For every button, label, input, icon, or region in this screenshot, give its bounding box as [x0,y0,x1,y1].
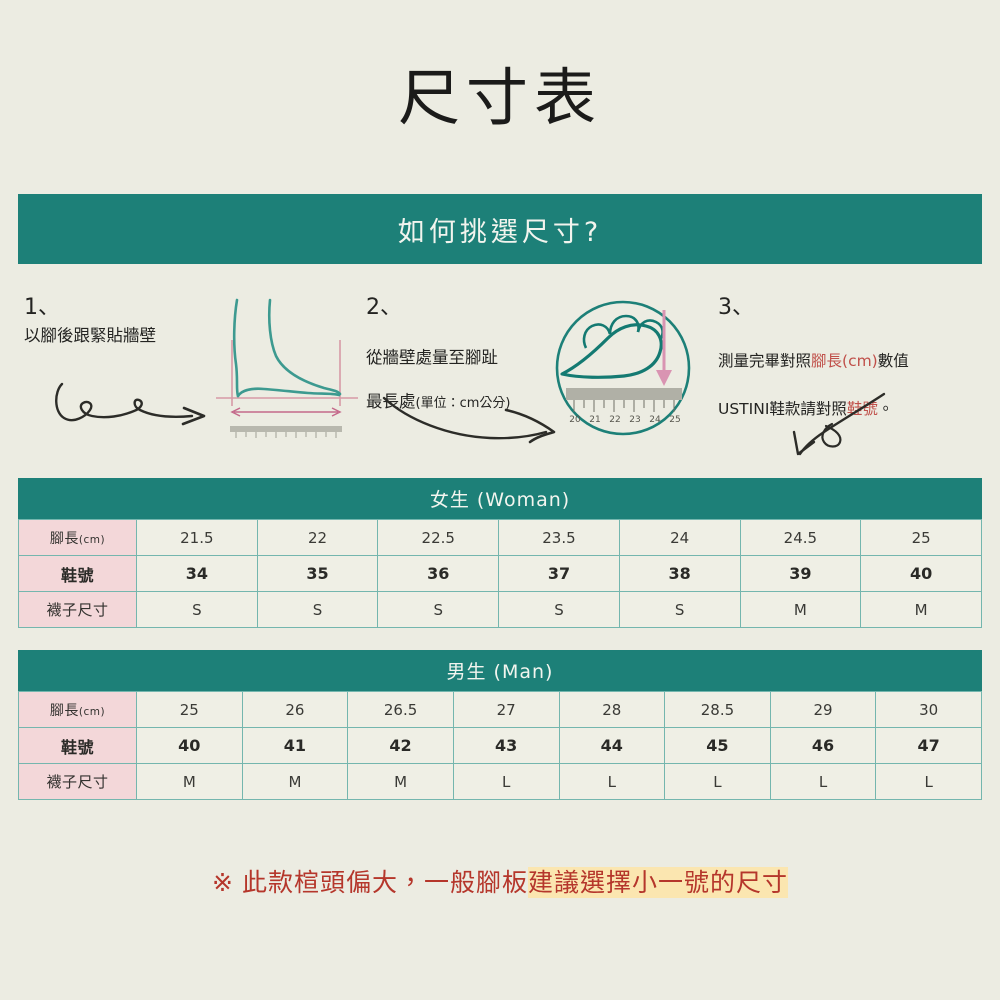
cell-value: 28.5 [665,692,771,728]
cell-value: 29 [770,692,876,728]
footer-note-highlight: 建議選擇小一號的尺寸 [528,867,788,898]
table-row: 鞋號 40 41 42 43 44 45 46 47 [19,728,982,764]
table-row: 襪子尺寸 M M M L L L L L [19,764,982,800]
cell-value: S [257,592,378,628]
step-3: 3、 測量完畢對照腳長(cm)數值 USTINI鞋款請對照鞋號。 [718,296,990,462]
cell-value: 37 [499,556,620,592]
row-label-foot-length: 腳長(cm) [19,520,137,556]
squiggle-arrow-icon [766,392,916,458]
row-label-foot-length-unit: (cm) [79,534,105,546]
ruler-label-20: 20 [569,415,581,425]
cell-value: 47 [876,728,982,764]
table-row: 腳長(cm) 25 26 26.5 27 28 28.5 29 30 [19,692,982,728]
step-3-line1-suffix: 數值 [878,352,909,370]
row-label-sock-size: 襪子尺寸 [19,764,137,800]
cell-value: S [619,592,740,628]
cell-value: M [137,764,243,800]
size-table-woman: 女生 (Woman) 腳長(cm) 21.5 22 22.5 23.5 24 2… [18,478,982,628]
table-row: 鞋號 34 35 36 37 38 39 40 [19,556,982,592]
cell-value: 45 [665,728,771,764]
table-row: 腳長(cm) 21.5 22 22.5 23.5 24 24.5 25 [19,520,982,556]
page-title: 尺寸表 [0,62,1000,134]
row-label-foot-length-unit: (cm) [79,706,105,718]
cell-value: 28 [559,692,665,728]
cell-value: M [861,592,982,628]
footer-note: ※此款楦頭偏大，一般腳板建議選擇小一號的尺寸 [0,865,1000,901]
cell-value: 21.5 [137,520,258,556]
how-to-choose-banner: 如何挑選尺寸? [18,194,982,264]
ruler-label-23: 23 [629,415,640,425]
cell-value: L [453,764,559,800]
cell-value: 41 [242,728,348,764]
cell-value: 34 [137,556,258,592]
table-row: 襪子尺寸 S S S S S M M [19,592,982,628]
step-3-number: 3、 [718,296,990,320]
row-label-shoe-size: 鞋號 [19,556,137,592]
step-2: 2、 從牆壁處量至腳趾 最長處(單位：cm公分) [366,296,706,462]
ruler-label-21: 21 [589,415,600,425]
banner-label: 如何挑選尺寸? [398,210,602,249]
cell-value: 35 [257,556,378,592]
step-3-line1-prefix: 測量完畢對照 [718,352,811,370]
table-heading-man: 男生 (Man) [19,650,982,692]
cell-value: M [740,592,861,628]
cell-value: 40 [861,556,982,592]
cell-value: 22.5 [378,520,499,556]
cell-value: 25 [861,520,982,556]
cell-value: L [876,764,982,800]
footer-note-plain: 此款楦頭偏大，一般腳板 [242,868,528,897]
row-label-shoe-size: 鞋號 [19,728,137,764]
size-table-man: 男生 (Man) 腳長(cm) 25 26 26.5 27 28 28.5 29… [18,650,982,800]
cell-value: 24.5 [740,520,861,556]
ruler-label-25: 25 [669,415,680,425]
step-3-line1: 測量完畢對照腳長(cm)數值 [718,349,990,373]
toes-top-view-circle-illustration: 20 21 22 23 24 25 [548,296,698,444]
cell-value: 24 [619,520,740,556]
ruler-label-22: 22 [609,415,620,425]
table-heading-woman: 女生 (Woman) [19,478,982,520]
note-mark-icon: ※ [212,868,234,897]
cell-value: 46 [770,728,876,764]
cell-value: S [499,592,620,628]
cell-value: 42 [348,728,454,764]
row-label-foot-length-text: 腳長 [50,703,79,719]
cell-value: 22 [257,520,378,556]
cell-value: L [665,764,771,800]
cell-value: M [242,764,348,800]
row-label-foot-length: 腳長(cm) [19,692,137,728]
cell-value: 43 [453,728,559,764]
step-1: 1、 以腳後跟緊貼牆壁 [24,296,354,462]
cell-value: 44 [559,728,665,764]
size-chart-page: 尺寸表 如何挑選尺寸? 1、 以腳後跟緊貼牆壁 [0,0,1000,1000]
cell-value: 25 [137,692,243,728]
cell-value: 26 [242,692,348,728]
foot-side-view-illustration [212,298,364,448]
cell-value: 36 [378,556,499,592]
cell-value: L [770,764,876,800]
cell-value: S [378,592,499,628]
row-label-sock-size: 襪子尺寸 [19,592,137,628]
cell-value: 27 [453,692,559,728]
cell-value: 40 [137,728,243,764]
row-label-foot-length-text: 腳長 [50,531,79,547]
cell-value: M [348,764,454,800]
cell-value: 23.5 [499,520,620,556]
step-3-foot-length-highlight: 腳長(cm) [811,352,878,370]
cell-value: L [559,764,665,800]
cell-value: 38 [619,556,740,592]
cell-value: 30 [876,692,982,728]
cell-value: 26.5 [348,692,454,728]
cell-value: S [137,592,258,628]
instruction-steps: 1、 以腳後跟緊貼牆壁 [0,296,1000,462]
ruler-label-24: 24 [649,415,661,425]
cell-value: 39 [740,556,861,592]
